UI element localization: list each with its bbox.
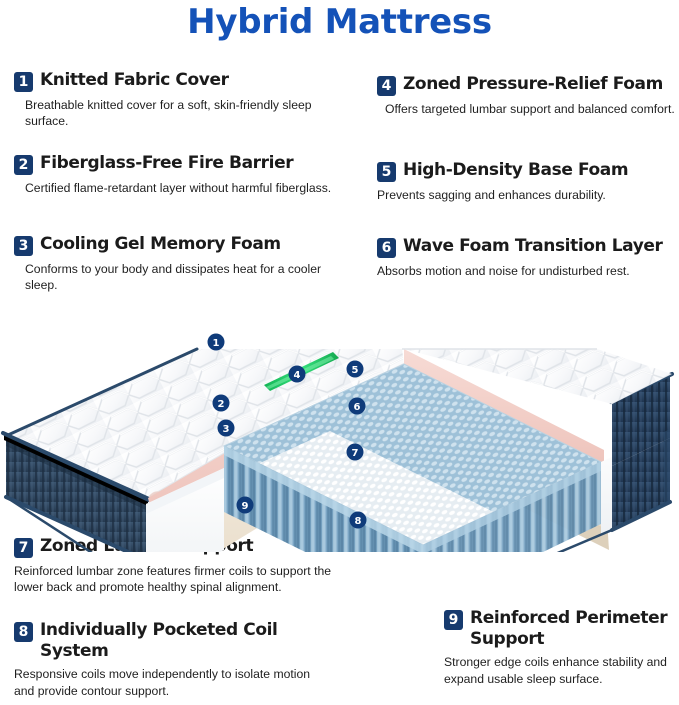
feature-item-8: 8 Individually Pocketed Coil System Resp… [14, 620, 324, 699]
feature-1-description: Breathable knitted cover for a soft, ski… [25, 97, 344, 129]
feature-4-number-badge: 4 [377, 76, 396, 96]
diagram-marker-3: 3 [218, 420, 235, 437]
feature-6-header: 6 Wave Foam Transition Layer [377, 236, 677, 258]
feature-2-number-badge: 2 [14, 155, 33, 175]
diagram-marker-2: 2 [213, 395, 230, 412]
feature-item-4: 4 Zoned Pressure-Relief Foam Offers targ… [377, 74, 677, 117]
feature-1-header: 1 Knitted Fabric Cover [14, 70, 344, 92]
feature-5-header: 5 High-Density Base Foam [377, 160, 677, 182]
feature-4-description: Offers targeted lumbar support and balan… [385, 101, 677, 117]
diagram-marker-4-label: 4 [294, 370, 301, 381]
feature-5-title: High-Density Base Foam [403, 160, 628, 181]
feature-3-title: Cooling Gel Memory Foam [40, 234, 281, 255]
feature-9-number-badge: 9 [444, 610, 463, 630]
feature-1-number-badge: 1 [14, 72, 33, 92]
feature-7-description: Reinforced lumbar zone features firmer c… [14, 563, 334, 595]
diagram-marker-9-label: 9 [242, 501, 249, 512]
feature-4-header: 4 Zoned Pressure-Relief Foam [377, 74, 677, 96]
diagram-marker-6-label: 6 [354, 402, 361, 413]
feature-2-header: 2 Fiberglass-Free Fire Barrier [14, 153, 344, 175]
feature-9-title: Reinforced Perimeter Support [470, 608, 679, 649]
diagram-marker-7-label: 7 [352, 448, 359, 459]
feature-3-number-badge: 3 [14, 236, 33, 256]
feature-item-6: 6 Wave Foam Transition Layer Absorbs mot… [377, 236, 677, 279]
diagram-marker-2-label: 2 [218, 399, 225, 410]
diagram-marker-3-label: 3 [223, 424, 230, 435]
feature-item-9: 9 Reinforced Perimeter Support Stronger … [444, 608, 679, 687]
feature-8-description: Responsive coils move independently to i… [14, 666, 324, 698]
feature-item-2: 2 Fiberglass-Free Fire Barrier Certified… [14, 153, 344, 196]
feature-2-title: Fiberglass-Free Fire Barrier [40, 153, 293, 174]
feature-6-number-badge: 6 [377, 238, 396, 258]
feature-3-header: 3 Cooling Gel Memory Foam [14, 234, 344, 256]
diagram-marker-8-label: 8 [355, 516, 362, 527]
feature-3-description: Conforms to your body and dissipates hea… [25, 261, 344, 293]
feature-item-1: 1 Knitted Fabric Cover Breathable knitte… [14, 70, 344, 129]
feature-item-3: 3 Cooling Gel Memory Foam Conforms to yo… [14, 234, 344, 293]
feature-8-title: Individually Pocketed Coil System [40, 620, 324, 661]
feature-2-description: Certified flame-retardant layer without … [25, 180, 344, 196]
feature-1-title: Knitted Fabric Cover [40, 70, 229, 91]
diagram-marker-6: 6 [349, 398, 366, 415]
feature-9-description: Stronger edge coils enhance stability an… [444, 654, 679, 686]
feature-4-title: Zoned Pressure-Relief Foam [403, 74, 663, 95]
diagram-marker-1: 1 [208, 334, 225, 351]
feature-5-number-badge: 5 [377, 162, 396, 182]
feature-6-description: Absorbs motion and noise for undisturbed… [377, 263, 677, 279]
diagram-marker-7: 7 [347, 444, 364, 461]
infographic-page: Hybrid Mattress 1 Knitted Fabric Cover B… [0, 0, 679, 705]
diagram-marker-1-label: 1 [213, 338, 220, 349]
page-title: Hybrid Mattress [0, 2, 679, 42]
diagram-marker-4: 4 [289, 366, 306, 383]
mattress-cutaway-illustration: 1 2 3 4 5 6 7 [0, 292, 679, 552]
feature-6-title: Wave Foam Transition Layer [403, 236, 663, 257]
feature-8-number-badge: 8 [14, 622, 33, 642]
diagram-marker-5-label: 5 [352, 365, 359, 376]
feature-item-5: 5 High-Density Base Foam Prevents saggin… [377, 160, 677, 203]
diagram-marker-8: 8 [350, 512, 367, 529]
feature-5-description: Prevents sagging and enhances durability… [377, 187, 677, 203]
feature-9-header: 9 Reinforced Perimeter Support [444, 608, 679, 649]
feature-8-header: 8 Individually Pocketed Coil System [14, 620, 324, 661]
diagram-marker-9: 9 [237, 497, 254, 514]
diagram-marker-5: 5 [347, 361, 364, 378]
